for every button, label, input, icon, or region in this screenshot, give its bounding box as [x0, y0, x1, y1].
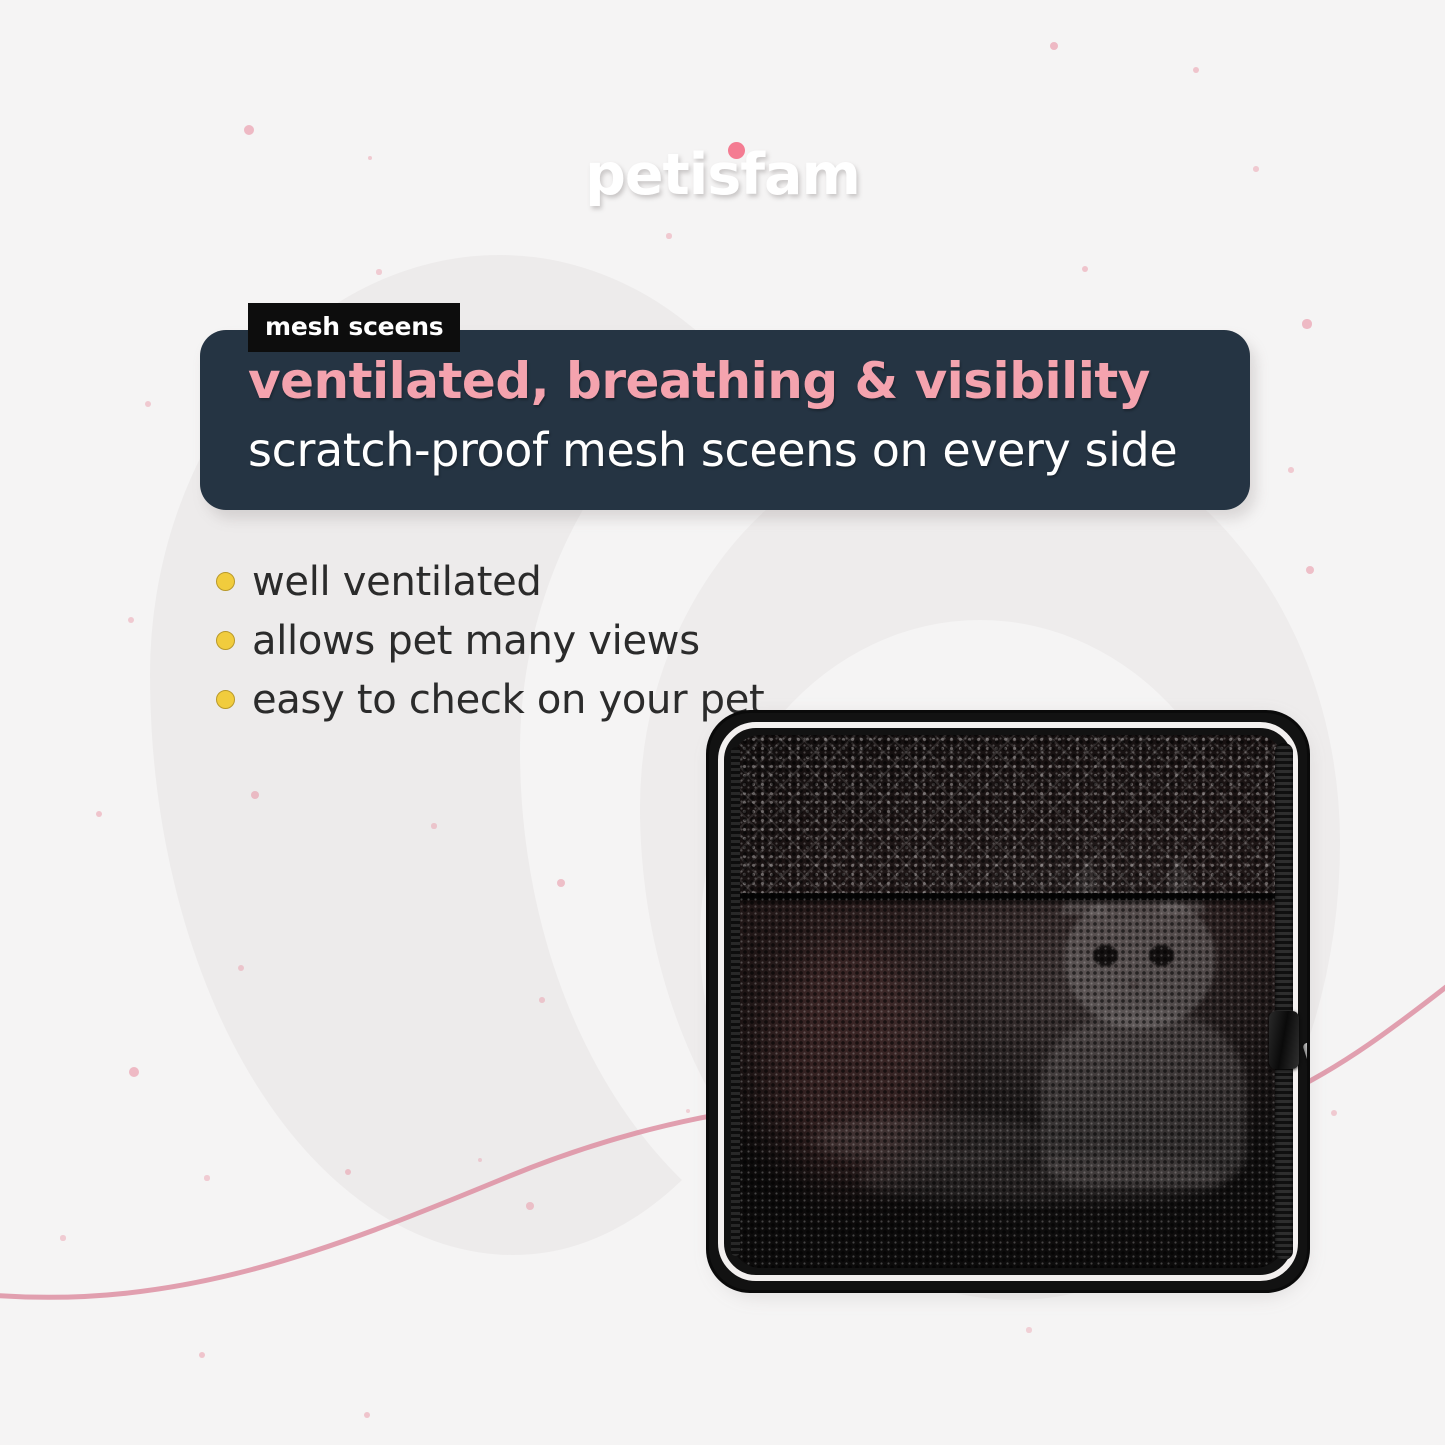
- speckle-dot: [1050, 42, 1058, 50]
- bullet-dot-icon: [216, 631, 235, 650]
- speckle-dot: [238, 965, 244, 971]
- speckle-dot: [1306, 566, 1315, 575]
- speckle-dot: [431, 823, 436, 828]
- zipper-slider[interactable]: [1269, 1011, 1299, 1069]
- zipper-track[interactable]: [1275, 743, 1293, 1260]
- speckle-dot: [376, 269, 381, 274]
- banner-subheadline: scratch-proof mesh sceens on every side: [248, 423, 1177, 477]
- brand-logo: petisfam: [0, 142, 1445, 208]
- speckle-dot: [145, 401, 151, 407]
- speckle-dot: [204, 1175, 209, 1180]
- speckle-dot: [129, 1067, 139, 1077]
- section-tag: mesh sceens: [248, 303, 460, 352]
- list-item-label: allows pet many views: [252, 618, 700, 664]
- speckle-dot: [686, 1109, 691, 1114]
- speckle-dot: [345, 1169, 351, 1175]
- speckle-dot: [244, 125, 254, 135]
- list-item: well ventilated: [216, 552, 836, 611]
- speckle-dot: [60, 1235, 65, 1240]
- speckle-dot: [557, 879, 565, 887]
- speckle-dot: [1302, 319, 1311, 328]
- speckle-dot: [96, 811, 102, 817]
- product-image-pet-carrier: [706, 710, 1310, 1293]
- speckle-dot: [128, 617, 134, 623]
- bullet-dot-icon: [216, 572, 235, 591]
- bullet-dot-icon: [216, 690, 235, 709]
- white-piping-trim: [718, 722, 1298, 1281]
- list-item-label: easy to check on your pet: [252, 677, 764, 723]
- speckle-dot: [1193, 67, 1199, 73]
- speckle-dot: [666, 233, 671, 238]
- speckle-dot: [478, 1158, 483, 1163]
- speckle-dot: [1331, 1110, 1337, 1116]
- speckle-dot: [1082, 266, 1089, 273]
- speckle-dot: [1026, 1327, 1031, 1332]
- speckle-dot: [526, 1202, 534, 1210]
- speckle-dot: [1288, 467, 1294, 473]
- speckle-dot: [364, 1412, 371, 1419]
- speckle-dot: [539, 997, 545, 1003]
- zipper-pull-icon[interactable]: [1302, 1042, 1310, 1127]
- carrier-shell: [706, 710, 1310, 1293]
- banner-headline: ventilated, breathing & visibility: [248, 352, 1150, 410]
- logo-accent-dot-icon: [728, 142, 745, 159]
- speckle-dot: [251, 791, 259, 799]
- list-item: allows pet many views: [216, 611, 836, 670]
- feature-banner: ventilated, breathing & visibility scrat…: [200, 330, 1250, 510]
- list-item-label: well ventilated: [252, 559, 542, 605]
- brand-logo-text: petisfam: [585, 142, 860, 208]
- left-seam: [731, 747, 740, 1256]
- feature-list: well ventilated allows pet many views ea…: [216, 552, 836, 729]
- speckle-dot: [199, 1352, 205, 1358]
- product-infographic: petisfam ventilated, breathing & visibil…: [0, 0, 1445, 1445]
